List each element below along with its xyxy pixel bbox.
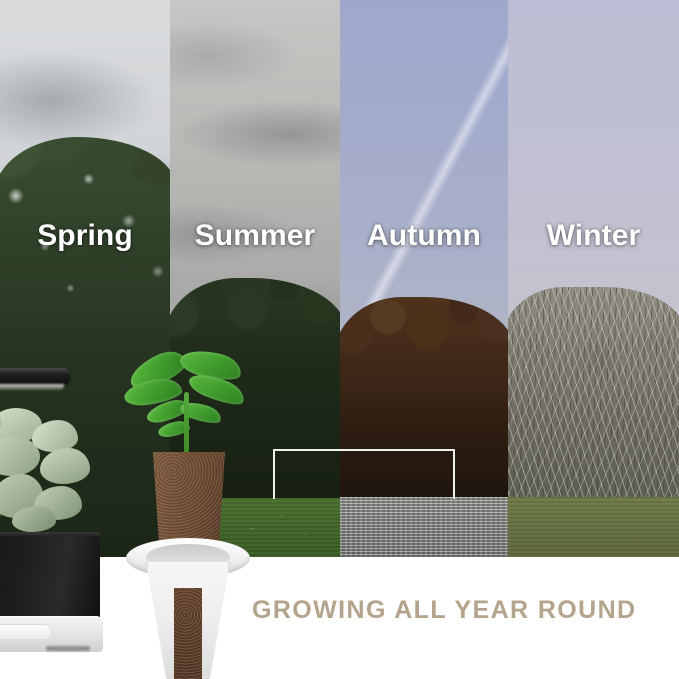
hydroponic-garden-unit bbox=[0, 368, 108, 658]
soil-plug bbox=[148, 452, 230, 550]
season-label-winter: Winter bbox=[508, 219, 679, 253]
season-label-spring: Spring bbox=[0, 219, 170, 253]
winter-bare-trees bbox=[508, 287, 679, 497]
pod-soil-window bbox=[174, 588, 202, 679]
grow-lamp-arm bbox=[0, 368, 70, 385]
control-button[interactable] bbox=[0, 624, 52, 640]
seasons-growing-banner: Spring Summer Autumn Winter GROWING ALL … bbox=[0, 0, 679, 679]
planter-body bbox=[0, 536, 100, 622]
season-panel-winter[interactable]: Winter bbox=[508, 0, 679, 557]
season-label-summer: Summer bbox=[170, 219, 340, 253]
season-label-autumn: Autumn bbox=[340, 219, 508, 253]
winter-grass bbox=[508, 497, 679, 557]
plant-stem bbox=[184, 392, 189, 458]
goalpost-icon bbox=[273, 449, 455, 499]
grow-pod bbox=[122, 352, 254, 679]
autumn-frosty-grass bbox=[340, 497, 508, 557]
tagline-text: GROWING ALL YEAR ROUND bbox=[252, 596, 637, 625]
base-shadow bbox=[46, 646, 90, 651]
pepper-seedling bbox=[122, 352, 254, 458]
herb-cluster bbox=[0, 390, 98, 538]
